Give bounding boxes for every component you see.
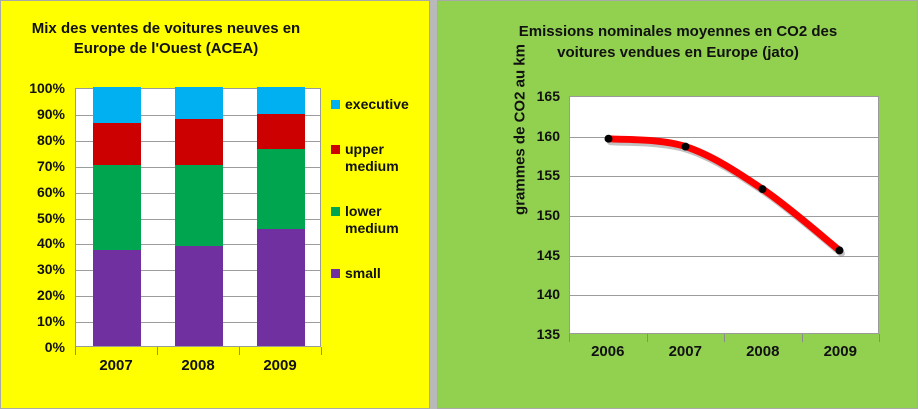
bar-segment-upper-medium[interactable] (175, 119, 223, 164)
x-tick-label: 2007 (99, 357, 132, 374)
chart-title-market-mix: Mix des ventes de voitures neuves en Eur… (11, 19, 321, 59)
legend-swatch-lower-medium-icon (331, 207, 340, 216)
legend-swatch-small-icon (331, 269, 340, 278)
bar-group[interactable] (175, 89, 223, 346)
legend-swatch-executive-icon (331, 100, 340, 109)
chart-title-line-2: Europe de l'Ouest (ACEA) (11, 39, 321, 59)
x-tick (724, 334, 725, 342)
x-tick (802, 334, 803, 342)
y-tick-label: 0% (45, 339, 65, 355)
data-point-marker[interactable] (682, 143, 690, 151)
legend-item-small[interactable]: small (331, 265, 427, 282)
data-point-marker[interactable] (605, 135, 613, 143)
x-tick (569, 334, 570, 342)
x-tick-label: 2009 (263, 357, 296, 374)
chart-title-line-1: Mix des ventes de voitures neuves en (11, 19, 321, 39)
bar-segment-lower-medium[interactable] (257, 149, 305, 229)
x-axis-ticks-co2 (569, 334, 879, 343)
data-point-marker[interactable] (759, 185, 767, 193)
x-tick-label: 2007 (669, 343, 702, 360)
y-tick-label: 90% (37, 106, 65, 122)
y-axis-labels-co2: 135140145150155160165 (498, 89, 564, 341)
y-tick-label: 150 (537, 207, 560, 223)
x-tick (157, 347, 158, 355)
legend-label: lower medium (331, 203, 427, 237)
y-axis-labels-market-mix: 0%10%20%30%40%50%60%70%80%90%100% (1, 79, 69, 356)
legend-label: small (331, 265, 427, 282)
legend-item-executive[interactable]: executive (331, 96, 427, 113)
bar-group[interactable] (257, 89, 305, 346)
chart-panel-market-mix: Mix des ventes de voitures neuves en Eur… (0, 0, 430, 409)
bar-segment-small[interactable] (93, 250, 141, 346)
bar-segment-lower-medium[interactable] (93, 165, 141, 250)
x-tick (321, 347, 322, 355)
y-tick-label: 135 (537, 326, 560, 342)
bar-segment-small[interactable] (175, 246, 223, 346)
y-tick-label: 140 (537, 286, 560, 302)
y-tick-label: 30% (37, 261, 65, 277)
legend-item-upper-medium[interactable]: upper medium (331, 141, 427, 175)
y-tick-label: 50% (37, 210, 65, 226)
legend-label: executive (331, 96, 427, 113)
y-tick-label: 160 (537, 128, 560, 144)
chart-panel-co2-emissions: Emissions nominales moyennes en CO2 des … (437, 0, 918, 409)
x-tick-label: 2009 (824, 343, 857, 360)
bar-segment-lower-medium[interactable] (175, 165, 223, 247)
y-tick-label: 155 (537, 167, 560, 183)
bar-segment-executive[interactable] (175, 87, 223, 119)
y-tick-label: 145 (537, 247, 560, 263)
line-series-co2 (570, 97, 878, 333)
x-axis-ticks-market-mix (75, 347, 321, 356)
bar-segment-upper-medium[interactable] (257, 114, 305, 149)
data-point-marker[interactable] (836, 246, 844, 254)
x-axis-labels-co2: 2006200720082009 (569, 343, 879, 367)
bar-group[interactable] (93, 89, 141, 346)
x-tick (647, 334, 648, 342)
x-tick-label: 2008 (746, 343, 779, 360)
legend-item-lower-medium[interactable]: lower medium (331, 203, 427, 237)
y-tick-label: 60% (37, 184, 65, 200)
co2-trend-line[interactable] (609, 139, 840, 251)
x-tick (75, 347, 76, 355)
screenshot-root: Mix des ventes de voitures neuves en Eur… (0, 0, 918, 409)
y-tick-label: 40% (37, 235, 65, 251)
plot-area-market-mix (75, 88, 321, 347)
legend-label: upper medium (331, 141, 427, 175)
x-tick-label: 2006 (591, 343, 624, 360)
legend-market-mix: executiveupper mediumlower mediumsmall (331, 96, 427, 310)
bar-series-container (76, 89, 320, 346)
y-tick-label: 80% (37, 132, 65, 148)
plot-area-co2 (569, 96, 879, 334)
y-tick-label: 20% (37, 287, 65, 303)
y-tick-label: 10% (37, 313, 65, 329)
x-tick-label: 2008 (181, 357, 214, 374)
y-tick-label: 70% (37, 158, 65, 174)
y-tick-label: 165 (537, 88, 560, 104)
line-shadow (610, 142, 841, 254)
bar-segment-small[interactable] (257, 229, 305, 346)
x-axis-labels-market-mix: 200720082009 (75, 357, 321, 381)
y-tick-label: 100% (29, 80, 65, 96)
bar-segment-executive[interactable] (257, 87, 305, 114)
bar-segment-executive[interactable] (93, 87, 141, 123)
x-tick (879, 334, 880, 342)
x-tick (239, 347, 240, 355)
bar-segment-upper-medium[interactable] (93, 123, 141, 164)
legend-swatch-upper-medium-icon (331, 145, 340, 154)
